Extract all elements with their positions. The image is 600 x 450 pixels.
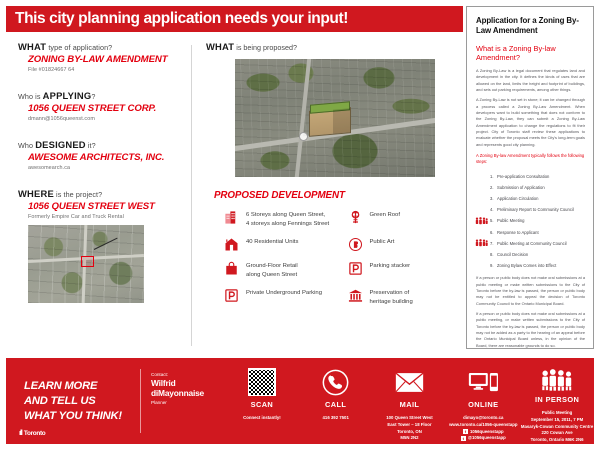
process-steps-list: 1.Pre-application Consultation 2.Submiss… xyxy=(476,171,585,272)
locator-map-image xyxy=(28,225,144,303)
step-number: 5. xyxy=(490,215,497,226)
footer-channel-scan[interactable]: SCAN Connect instantly! xyxy=(225,358,299,444)
envelope-icon xyxy=(395,367,424,397)
where-label: WHERE is the project? xyxy=(18,188,191,199)
what-application-file-number: File #01824667 64 xyxy=(28,67,191,73)
meeting-type: Public Meeting xyxy=(521,410,593,417)
slogan-line: AND TELL US xyxy=(24,394,140,409)
mail-line: M5N 2N2 xyxy=(386,435,433,442)
city-of-toronto-logo: ıll Toronto xyxy=(19,430,45,437)
slogan-line: WHAT YOU THINK! xyxy=(24,409,140,424)
devices-icon xyxy=(468,367,499,397)
designed-answer: AWESOME ARCHITECTS, INC. xyxy=(28,152,191,163)
headline-text: This city planning application needs you… xyxy=(15,10,348,28)
house-icon xyxy=(224,237,239,252)
parking-icon xyxy=(348,261,363,276)
sidebar-process-lead-in: A Zoning By-law Amendment typically foll… xyxy=(476,153,585,166)
planning-notice-poster: This city planning application needs you… xyxy=(0,0,600,450)
development-feature: Public Art xyxy=(348,237,462,252)
aerial-site-pin xyxy=(299,132,308,141)
development-feature-text: 6 Storeys along Queen Street, 4 storeys … xyxy=(246,210,329,228)
online-website[interactable]: www.toronto.ca/1056-queenstapp xyxy=(449,422,517,429)
site-former-use: Formerly Empire Car and Truck Rental xyxy=(28,214,191,220)
footer-channel-call[interactable]: CALL 416 392 7501 xyxy=(299,358,373,444)
process-step: 8.Council Decision xyxy=(476,249,585,260)
proposal-label: WHAT is being proposed? xyxy=(206,41,463,52)
online-email[interactable]: dimayo@toronto.ca xyxy=(449,415,517,422)
information-sidebar: Application for a Zoning By-Law Amendmen… xyxy=(466,6,594,349)
headline-banner: This city planning application needs you… xyxy=(6,6,463,32)
mail-line: 100 Queen Street West xyxy=(386,415,433,422)
channel-detail: 100 Queen Street West East Tower – 18 Fl… xyxy=(386,415,433,442)
step-label: Response to Applicant xyxy=(497,230,539,235)
channel-detail: Connect instantly! xyxy=(243,415,280,422)
architect-website: awesomearch.ca xyxy=(28,165,191,171)
green-roof-icon xyxy=(348,210,363,225)
building-icon xyxy=(224,210,239,225)
question-block-applying: Who is APPLYING? 1056 QUEEN STREET CORP.… xyxy=(18,90,191,122)
applicant-email: dmann@1056queenst.com xyxy=(28,116,191,122)
footer-slogan: LEARN MORE AND TELL US WHAT YOU THINK! ı… xyxy=(6,358,140,444)
twitter-handle: @1056queenstapp xyxy=(468,435,506,442)
development-feature: Preservation of heritage building xyxy=(348,288,462,306)
footer-channel-online[interactable]: ONLINE dimayo@toronto.ca www.toronto.ca/… xyxy=(446,358,520,444)
question-block-designed: Who DESIGNED it? AWESOME ARCHITECTS, INC… xyxy=(18,139,191,171)
mail-line: East Tower – 18 Floor xyxy=(386,422,433,429)
development-feature-text: Public Art xyxy=(370,237,395,247)
development-feature-text: Parking stacker xyxy=(370,261,411,271)
development-feature: Parking stacker xyxy=(348,261,462,279)
step-number: 4. xyxy=(490,204,497,215)
contact-name-last: diMayonnaise xyxy=(151,388,225,398)
proposed-development-list: 6 Storeys along Queen Street, 4 storeys … xyxy=(206,210,463,306)
step-number: 2. xyxy=(490,182,497,193)
step-label: Council Decision xyxy=(497,252,528,257)
process-step: 6.Response to Applicant xyxy=(476,227,585,238)
contact-role: Planner xyxy=(151,400,225,405)
building-shadow xyxy=(333,108,350,133)
process-step: 5.Public Meeting xyxy=(476,215,585,226)
people-group-icon xyxy=(475,217,488,226)
left-column: WHAT type of application? ZONING BY-LAW … xyxy=(6,41,191,356)
people-group-icon xyxy=(475,239,488,248)
development-feature-text: Ground-Floor Retail along Queen Street xyxy=(246,261,298,279)
development-feature-text: Private Underground Parking xyxy=(246,288,322,298)
step-label: Pre-application Consultation xyxy=(497,174,549,179)
development-feature: 40 Residential Units xyxy=(224,237,338,252)
toronto-logo-mark: ıll xyxy=(19,430,22,437)
contact-kicker: Contact: xyxy=(151,372,225,377)
contact-footer: LEARN MORE AND TELL US WHAT YOU THINK! ı… xyxy=(6,358,594,444)
meeting-datetime: September 15, 2011, 7 PM xyxy=(521,417,593,424)
step-number: 1. xyxy=(490,171,497,182)
channel-label: SCAN xyxy=(251,400,274,409)
channel-label: CALL xyxy=(325,400,346,409)
contact-name-first: Wilfrid xyxy=(151,378,225,388)
public-art-icon xyxy=(348,237,363,252)
step-label: Zoning Bylaw Comes into Effect xyxy=(497,263,556,268)
twitter-icon: t xyxy=(461,436,466,441)
proposed-development-title: PROPOSED DEVELOPMENT xyxy=(214,190,463,201)
retail-bag-icon xyxy=(224,261,239,276)
development-feature: 6 Storeys along Queen Street, 4 storeys … xyxy=(224,210,338,228)
development-feature: Green Roof xyxy=(348,210,462,228)
meeting-venue: Masaryk-Cowan Community Centre xyxy=(521,424,593,431)
channel-detail: 416 392 7501 xyxy=(323,415,349,422)
development-feature-text: 40 Residential Units xyxy=(246,237,298,247)
process-step: 2.Submission of Application xyxy=(476,182,585,193)
designed-label: Who DESIGNED it? xyxy=(18,139,191,150)
step-label: Public Meeting xyxy=(497,218,524,223)
footer-contact-person: Contact: Wilfrid diMayonnaise Planner xyxy=(141,358,225,444)
step-label: Public Meeting at Community Council xyxy=(497,241,567,246)
sidebar-heading: What is a Zoning By-law Amendment? xyxy=(476,44,585,63)
channel-detail: Public Meeting September 15, 2011, 7 PM … xyxy=(521,410,593,444)
step-number: 6. xyxy=(490,227,497,238)
locator-leader-line xyxy=(94,237,118,249)
proposed-building-massing xyxy=(309,107,351,137)
what-application-answer: ZONING BY-LAW AMENDMENT xyxy=(28,54,191,65)
applying-label: Who is APPLYING? xyxy=(18,90,191,101)
process-step: 3.Application Circulation xyxy=(476,193,585,204)
channel-detail: dimayo@toronto.ca www.toronto.ca/1056-qu… xyxy=(449,415,517,442)
channel-label: ONLINE xyxy=(468,400,498,409)
heritage-icon xyxy=(348,288,363,303)
question-block-where: WHERE is the project? 1056 QUEEN STREET … xyxy=(18,188,191,303)
step-number: 3. xyxy=(490,193,497,204)
where-answer: 1056 QUEEN STREET WEST xyxy=(28,201,191,212)
step-label: Application Circulation xyxy=(497,196,538,201)
right-column: WHAT is being proposed? PROPOSED DEVELOP… xyxy=(192,41,463,356)
aerial-rendering-image xyxy=(235,59,435,177)
sidebar-legal-note: If a person or public body does not make… xyxy=(476,275,585,307)
step-number: 9. xyxy=(490,260,497,271)
question-block-what-application: WHAT type of application? ZONING BY-LAW … xyxy=(18,41,191,73)
poster-body: WHAT type of application? ZONING BY-LAW … xyxy=(6,41,463,356)
channel-label: IN PERSON xyxy=(535,395,579,404)
mail-line: Toronto, ON xyxy=(386,429,433,436)
step-number: 8. xyxy=(490,249,497,260)
qr-code-icon[interactable] xyxy=(248,367,276,397)
footer-channel-mail[interactable]: MAIL 100 Queen Street West East Tower – … xyxy=(373,358,447,444)
process-step: 7.Public Meeting at Community Council xyxy=(476,238,585,249)
channel-label: MAIL xyxy=(400,400,420,409)
development-feature-text: Preservation of heritage building xyxy=(370,288,413,306)
step-label: Preliminary Report to Community Council xyxy=(497,207,574,212)
development-feature: Private Underground Parking xyxy=(224,288,338,306)
step-label: Submission of Application xyxy=(497,185,545,190)
sidebar-legal-note: If a person or public body does not make… xyxy=(476,311,585,349)
people-group-icon xyxy=(540,367,574,392)
sidebar-paragraph: A Zoning By-Law is a legal document that… xyxy=(476,68,585,93)
facebook-handle: 1056queenstapp xyxy=(470,429,504,436)
site-marker xyxy=(81,256,94,267)
meeting-city: Toronto, Ontario M6K 2N6 xyxy=(521,437,593,444)
what-application-label: WHAT type of application? xyxy=(18,41,191,52)
process-step: 9.Zoning Bylaw Comes into Effect xyxy=(476,260,585,271)
qr-code-image[interactable] xyxy=(248,368,276,396)
phone-icon xyxy=(322,367,349,397)
development-feature-text: Green Roof xyxy=(370,210,400,220)
parking-icon xyxy=(224,288,239,303)
twitter-link[interactable]: t @1056queenstapp xyxy=(449,435,517,442)
slogan-line: LEARN MORE xyxy=(24,379,140,394)
sidebar-title: Application for a Zoning By-Law Amendmen… xyxy=(476,16,585,37)
process-step: 1.Pre-application Consultation xyxy=(476,171,585,182)
meeting-address: 220 Cowan Ave xyxy=(521,430,593,437)
development-feature: Ground-Floor Retail along Queen Street xyxy=(224,261,338,279)
step-number: 7. xyxy=(490,238,497,249)
toronto-logo-text: Toronto xyxy=(24,430,46,437)
facebook-link[interactable]: f 1056queenstapp xyxy=(449,429,517,436)
process-step: 4.Preliminary Report to Community Counci… xyxy=(476,204,585,215)
footer-channel-in-person[interactable]: IN PERSON Public Meeting September 15, 2… xyxy=(520,358,594,444)
applying-answer: 1056 QUEEN STREET CORP. xyxy=(28,103,191,114)
sidebar-paragraph: A Zoning By-Law is not set in stone; it … xyxy=(476,97,585,148)
facebook-icon: f xyxy=(463,429,468,434)
